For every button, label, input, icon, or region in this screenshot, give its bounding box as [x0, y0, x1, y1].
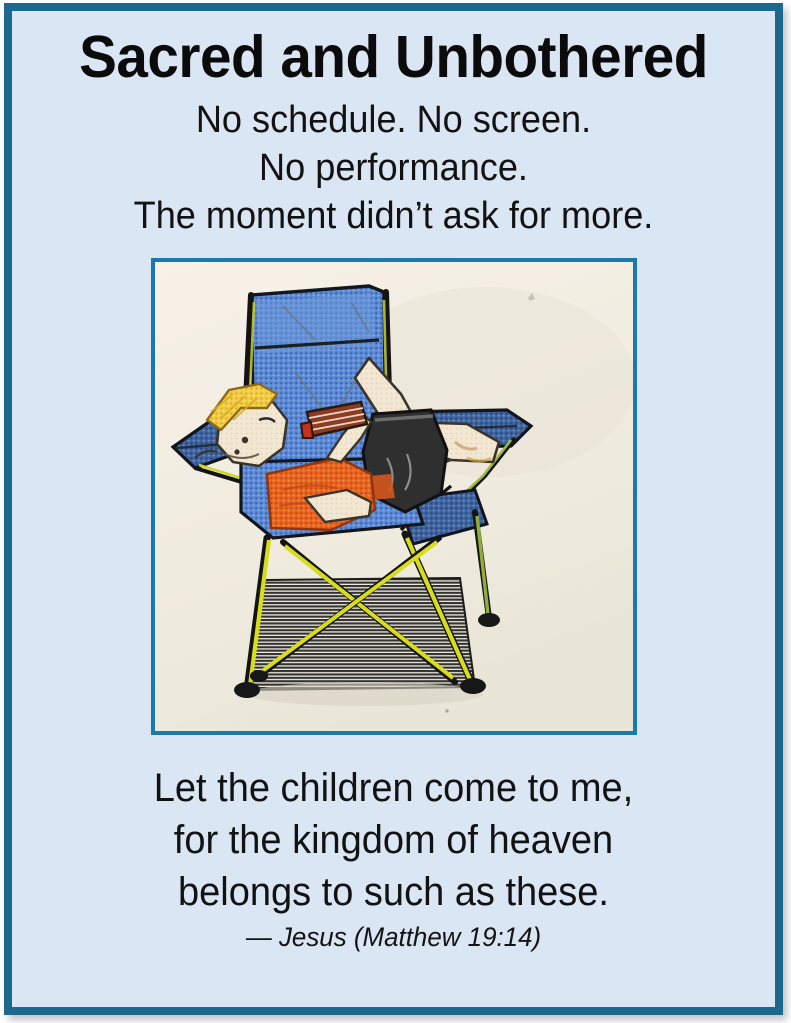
page-title: Sacred and Unbothered	[27, 27, 759, 88]
quote-line-3: belongs to such as these.	[31, 866, 756, 918]
subtitle-line-3: The moment didn’t ask for more.	[31, 193, 756, 241]
child-reading-in-camp-chair-drawing	[155, 262, 633, 731]
scripture-quote: Let the children come to me, for the kin…	[31, 762, 756, 918]
quote-line-1: Let the children come to me,	[31, 762, 756, 814]
subtitle-line-2: No performance.	[31, 145, 756, 193]
illustration-frame	[151, 258, 637, 735]
subtitle-block: No schedule. No screen. No performance. …	[31, 97, 756, 241]
subtitle-line-1: No schedule. No screen.	[31, 97, 756, 145]
poster-card: Sacred and Unbothered No schedule. No sc…	[4, 3, 783, 1015]
quote-line-2: for the kingdom of heaven	[31, 814, 756, 866]
quote-attribution: — Jesus (Matthew 19:14)	[27, 922, 759, 953]
